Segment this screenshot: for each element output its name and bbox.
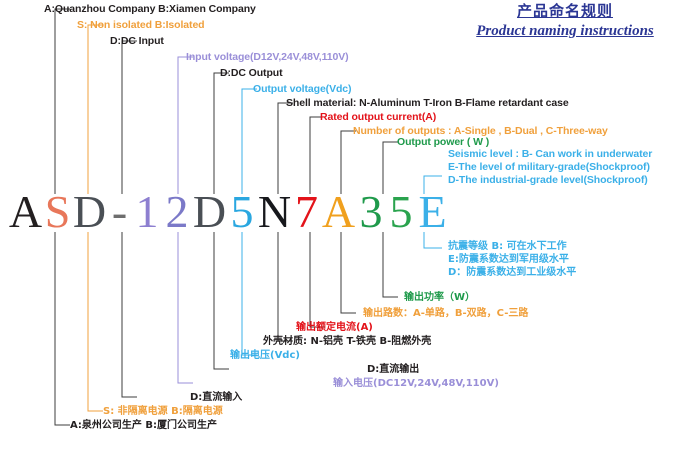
seismic-cn-line-0: 抗震等级 B: 可在水下工作	[448, 240, 576, 253]
label-isolation-cn: S: 非隔离电源 B:隔离电源	[103, 405, 223, 418]
leader-rated-current	[310, 117, 325, 194]
code-char-11: 3	[356, 186, 386, 238]
title-chinese: 产品命名规则	[440, 1, 690, 21]
leader-dc-input	[122, 41, 137, 194]
code-char-7: 5	[227, 186, 257, 238]
code-char-5: 2	[162, 186, 192, 238]
label-dc-input-cn: D:直流输入	[190, 391, 242, 404]
label-out-voltage-cn: 输出电压(Vdc)	[230, 349, 300, 362]
seismic-en-line-1: E-The level of military-grade(Shockproof…	[448, 161, 652, 174]
code-char-2: D	[72, 186, 107, 238]
leader-origin	[55, 9, 70, 194]
seismic-en-line-2: D-The industrial-grade level(Shockproof)	[448, 174, 652, 187]
code-char-0: A	[8, 186, 43, 238]
leader-isolation-cn	[88, 232, 103, 411]
leader-shell	[278, 103, 293, 194]
code-char-12: 5	[386, 186, 416, 238]
leader-dc-output	[214, 73, 229, 194]
product-code: ASD-12D5N7A35E	[8, 186, 449, 238]
leader-rated-cur-cn	[310, 232, 325, 327]
leader-out-voltage	[242, 89, 257, 194]
code-char-3: -	[107, 186, 132, 238]
label-out-power-cn: 输出功率（W）	[404, 291, 475, 304]
seismic-cn-line-2: D：防震系数达到工业级水平	[448, 266, 576, 279]
label-shell: Shell material: N-Aluminum T-Iron B-Flam…	[286, 97, 569, 110]
label-rated-current-cn: 输出额定电流(A)	[296, 321, 373, 334]
label-dc-output: D:DC Output	[220, 67, 282, 80]
leader-num-outputs-cn	[341, 232, 356, 313]
code-char-4: 1	[132, 186, 162, 238]
seismic-level-chinese: 抗震等级 B: 可在水下工作E:防震系数达到军用级水平D：防震系数达到工业级水平	[448, 240, 576, 279]
product-naming-diagram: 产品命名规则 Product naming instructions ASD-1…	[0, 0, 700, 455]
label-num-outputs-cn: 输出路数：A-单路，B-双路，C-三路	[363, 307, 528, 320]
leader-input-voltage	[178, 57, 193, 194]
label-origin: A:Quanzhou Company B:Xiamen Company	[44, 3, 256, 16]
label-out-voltage: Output voltage(Vdc)	[253, 83, 351, 96]
label-input-voltage-cn: 输入电压(DC12V,24V,48V,110V)	[333, 377, 499, 390]
leader-shell-cn	[278, 232, 293, 341]
leader-num-outputs	[341, 131, 356, 194]
label-dc-input: D:DC Input	[110, 35, 164, 48]
code-char-9: 7	[292, 186, 321, 238]
label-origin-cn: A:泉州公司生产 B:厦门公司生产	[70, 419, 217, 432]
seismic-en-line-0: Seismic level : B- Can work in underwate…	[448, 148, 652, 161]
leader-isolation	[88, 25, 103, 194]
leader-origin-cn	[55, 232, 70, 425]
code-char-10: A	[321, 186, 356, 238]
label-input-voltage: Input voltage(D12V,24V,48V,110V)	[186, 51, 349, 64]
label-rated-current: Rated output current(A)	[320, 111, 436, 124]
diagram-title: 产品命名规则 Product naming instructions	[440, 1, 690, 41]
leader-dc-input-cn	[122, 232, 137, 397]
leader-dc-output-cn	[214, 232, 229, 369]
label-isolation: S: Non isolated B:Isolated	[77, 19, 205, 32]
code-char-6: D	[192, 186, 227, 238]
label-shell-cn: 外壳材质: N-铝壳 T-铁壳 B-阻燃外壳	[263, 335, 431, 348]
title-english: Product naming instructions	[440, 21, 690, 41]
label-dc-output-cn: D:直流输出	[367, 363, 419, 376]
leader-out-volt-cn	[242, 232, 257, 355]
seismic-level-english: Seismic level : B- Can work in underwate…	[448, 148, 652, 187]
leader-out-power-cn	[383, 232, 398, 297]
code-char-8: N	[257, 186, 292, 238]
leader-input-volt-cn	[178, 232, 193, 383]
code-char-1: S	[43, 186, 72, 238]
code-char-13: E	[416, 186, 449, 238]
seismic-cn-line-1: E:防震系数达到军用级水平	[448, 253, 576, 266]
